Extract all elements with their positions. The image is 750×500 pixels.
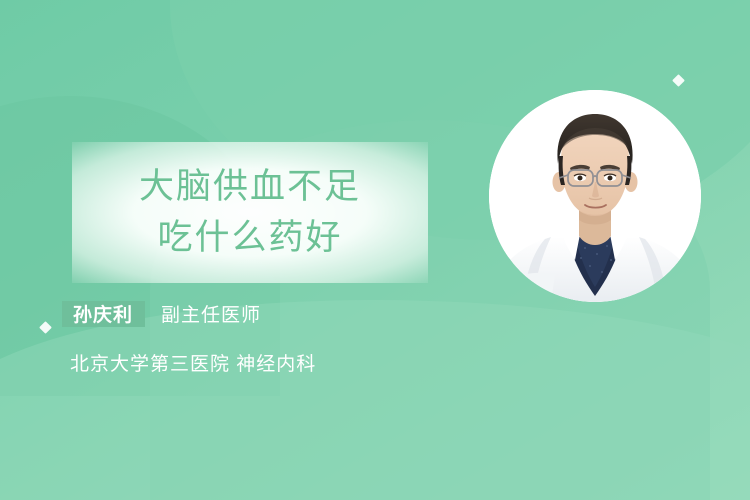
doctor-name-badge: 孙庆利: [62, 301, 145, 327]
medical-info-poster: 大脑供血不足 吃什么药好 孙庆利 副主任医师 北京大学第三医院 神经内科: [0, 0, 750, 500]
doctor-credit-block: 孙庆利 副主任医师 北京大学第三医院 神经内科: [62, 298, 462, 376]
doctor-portrait-avatar: [489, 90, 701, 302]
doctor-portrait-image: [489, 90, 701, 302]
diamond-sparkle-icon: [672, 74, 685, 87]
doctor-name: 孙庆利: [73, 300, 133, 327]
doctor-affiliation: 北京大学第三医院 神经内科: [70, 354, 316, 375]
title-line-2: 吃什么药好: [157, 216, 342, 261]
title-line-1: 大脑供血不足: [139, 165, 361, 210]
doctor-name-row: 孙庆利 副主任医师: [62, 298, 462, 329]
title-panel: 大脑供血不足 吃什么药好: [72, 142, 428, 283]
doctor-affiliation-row: 北京大学第三医院 神经内科: [62, 349, 462, 376]
diamond-sparkle-icon: [39, 321, 52, 334]
doctor-professional-title: 副主任医师: [161, 300, 261, 327]
